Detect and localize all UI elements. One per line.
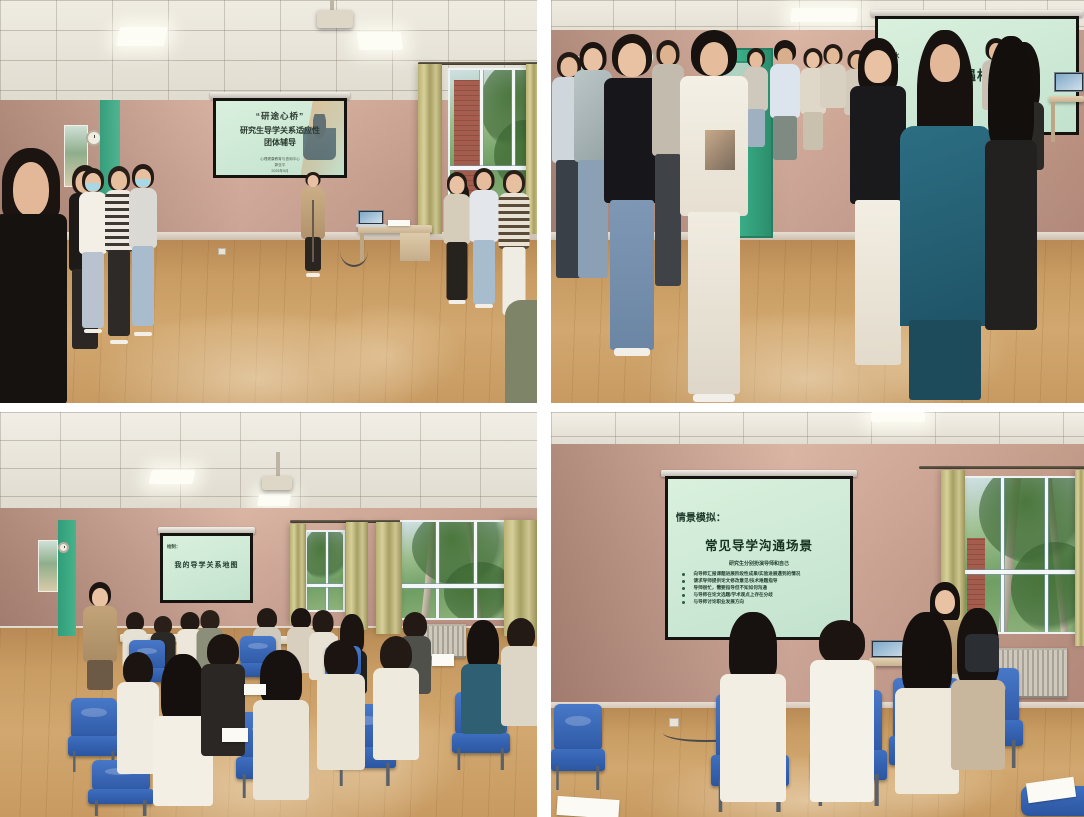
participant-standing: [497, 170, 531, 318]
slide-relationship-map: 绘制： 我的导学关系地图: [163, 536, 250, 600]
screen-frame: “研途心桥” 研究生导学关系适应性 团体辅导 心理健康教育与咨询中心 郭亚平 2…: [213, 98, 347, 178]
face-mask: [86, 183, 100, 191]
shoes: [475, 304, 493, 308]
list-item: 与导师在论文选题/学术观点上存在分歧: [682, 592, 839, 599]
torso: [985, 140, 1037, 330]
shoes: [614, 348, 650, 356]
wall-poster: [38, 540, 58, 592]
legs: [447, 242, 468, 300]
tree-foliage: [305, 530, 345, 582]
panel-worksheet-activity[interactable]: 绘制： 我的导学关系地图: [0, 412, 537, 817]
seated-participant: [500, 618, 537, 726]
panel-opening-session[interactable]: “研途心桥” 研究生导学关系适应性 团体辅导 心理健康教育与咨询中心 郭亚平 2…: [0, 0, 537, 403]
led-panel-light: [357, 32, 404, 50]
desk-leg: [1051, 102, 1055, 142]
worksheet[interactable]: [556, 796, 619, 817]
head: [13, 162, 49, 216]
list-item: 向导师汇报课题进展阶段性成果/实验进展遇到的情况: [682, 571, 839, 578]
torso: [470, 190, 499, 242]
legs: [82, 252, 104, 328]
blue-folding-chair[interactable]: [551, 704, 605, 790]
torso: [253, 700, 309, 800]
laptop-base[interactable]: [356, 224, 386, 227]
window: [305, 530, 345, 612]
projector-mount: [276, 452, 280, 478]
list-item: 请求导师提供论文修改意见/技术难题指导: [682, 578, 839, 585]
participant-standing: [468, 168, 500, 308]
ceiling-projector: [317, 10, 353, 28]
torso: [505, 300, 537, 403]
photo-collage: “研途心桥” 研究生导学关系适应性 团体辅导 心理健康教育与咨询中心 郭亚平 2…: [0, 0, 1084, 817]
head: [477, 172, 492, 190]
slide-subtitle-line2: 团体辅导: [216, 137, 344, 148]
curtain-rod: [919, 466, 1084, 469]
seated-participant: [719, 612, 787, 800]
window-curtain: [418, 64, 442, 234]
torso: [373, 668, 419, 760]
chair-back: [71, 698, 117, 738]
led-panel-light: [148, 470, 195, 484]
legs: [473, 240, 495, 304]
head: [506, 174, 522, 193]
seated-participant: [372, 636, 420, 760]
slide-corner-label: 绘制：: [167, 544, 181, 550]
long-hair: [260, 650, 302, 706]
long-hair: [988, 36, 1034, 154]
long-hair: [467, 620, 499, 670]
black-top: [850, 86, 906, 204]
legs: [108, 250, 130, 336]
list-item: 与导师讨论职业发展方向: [682, 599, 839, 606]
window-curtain: [1075, 470, 1084, 646]
laptop-screen[interactable]: [358, 210, 384, 225]
head: [750, 52, 763, 68]
participant-standing: [679, 30, 749, 402]
facilitator: [300, 172, 326, 277]
slide-subtitle-line1: 研究生导学关系适应性: [216, 125, 344, 136]
backpack: [965, 634, 999, 672]
participant-standing: [128, 164, 158, 336]
chair-legs: [454, 748, 507, 770]
head: [450, 176, 465, 194]
slide-caption: 研究生分别扮演导师和自己: [668, 560, 850, 567]
torso: [317, 674, 365, 770]
microphone-stand: [312, 200, 314, 262]
jeans: [610, 200, 654, 350]
participant-standing: [819, 44, 847, 140]
torso: [770, 64, 800, 118]
screen-surface: 绘制： 我的导学关系地图: [163, 536, 250, 600]
shoes: [84, 329, 102, 333]
head: [807, 52, 820, 68]
torso: [444, 194, 471, 244]
face-mask: [136, 179, 150, 187]
hair: [123, 652, 153, 686]
slide-title-page: “研途心桥” 研究生导学关系适应性 团体辅导 心理健康教育与咨询中心 郭亚平 2…: [216, 101, 344, 175]
white-trousers: [855, 200, 901, 365]
head: [111, 171, 127, 190]
window-mullion: [1045, 478, 1048, 632]
torso: [820, 64, 846, 108]
power-cable: [340, 235, 368, 267]
head: [865, 50, 892, 83]
slide-meta-center: 心理健康教育与咨询中心: [216, 157, 344, 162]
window: [400, 520, 508, 620]
hair: [207, 634, 239, 668]
torso: [810, 660, 874, 802]
torso: [720, 674, 786, 802]
shoes: [693, 394, 735, 402]
laptop-screen[interactable]: [1054, 72, 1084, 92]
long-hair: [902, 612, 952, 698]
panel-role-play-session[interactable]: 情景模拟： 常见导学沟通场景 研究生分别扮演导师和自己 向导师汇报课题进展阶段性…: [551, 412, 1084, 817]
torso: [501, 646, 537, 726]
legs: [132, 246, 154, 326]
participant-standing: [769, 40, 801, 162]
slide-corner-label: 情景模拟：: [676, 509, 726, 524]
slide-meta-presenter: 郭亚平: [216, 163, 344, 168]
led-panel-light: [116, 27, 168, 46]
projection-screen[interactable]: 绘制： 我的导学关系地图: [158, 527, 255, 603]
shoes: [306, 273, 320, 277]
torso: [461, 664, 505, 734]
shoes: [110, 340, 128, 344]
facilitator: [82, 582, 118, 692]
head: [584, 48, 603, 71]
head: [660, 45, 676, 65]
participant-standing: [983, 36, 1039, 336]
torso: [79, 192, 107, 254]
worksheet[interactable]: [244, 684, 266, 695]
desk-drawers: [400, 233, 430, 261]
screen-frame: 绘制： 我的导学关系地图: [160, 533, 253, 603]
participant-standing: [899, 30, 991, 403]
hair: [313, 610, 334, 634]
slide-title: “研途心桥”: [216, 110, 344, 122]
legs: [87, 660, 113, 690]
papers-on-desk: [388, 220, 410, 226]
head: [827, 48, 840, 64]
window-mullion: [965, 570, 1083, 574]
window-mullion: [307, 584, 343, 587]
hair: [201, 610, 220, 630]
shoes: [134, 332, 152, 336]
jacket-graphic: [705, 130, 735, 170]
seated-participant: [252, 650, 310, 798]
screen-surface: “研途心桥” 研究生导学关系适应性 团体辅导 心理健康教育与咨询中心 郭亚平 2…: [216, 101, 344, 175]
torso: [951, 680, 1005, 770]
window-mullion: [436, 522, 439, 618]
seated-participant: [809, 620, 875, 800]
hair: [324, 640, 358, 678]
wall-outlet: [218, 248, 226, 255]
window-mullion: [326, 532, 328, 610]
head: [700, 42, 728, 76]
participant-foreground: [0, 148, 62, 403]
slide-title: 我的导学关系地图: [163, 560, 250, 570]
legs: [773, 116, 797, 160]
slide-bullet-list: 向导师汇报课题进展阶段性成果/实验进展遇到的情况 请求导师提供论文修改意见/技术…: [682, 571, 839, 606]
chair-legs: [553, 766, 603, 790]
led-panel-light: [790, 8, 857, 22]
led-panel-light: [257, 494, 291, 506]
hair: [257, 608, 277, 629]
shoes: [449, 300, 466, 304]
legs: [909, 320, 981, 400]
participant-foreground: [505, 300, 537, 403]
list-item: 导师很忙，需要指导但不知如何沟通: [682, 585, 839, 592]
legs: [747, 109, 765, 147]
head: [930, 44, 960, 82]
hair: [403, 612, 427, 638]
window-mullion: [474, 522, 477, 618]
hair-bun: [819, 620, 865, 664]
head: [778, 48, 793, 65]
head: [92, 588, 108, 607]
projection-screen[interactable]: “研途心桥” 研究生导学关系适应性 团体辅导 心理健康教育与咨询中心 郭亚平 2…: [210, 92, 350, 178]
head: [308, 175, 319, 187]
seated-participant: [949, 608, 1007, 768]
worksheet[interactable]: [222, 728, 248, 742]
white-trousers: [688, 212, 740, 394]
legs: [655, 154, 681, 286]
torso: [0, 214, 67, 403]
head: [618, 43, 646, 77]
teal-shirt: [900, 126, 990, 326]
coat: [83, 606, 117, 662]
wall-clock: [58, 542, 69, 553]
window-mullion: [402, 584, 506, 588]
green-door[interactable]: [58, 520, 76, 636]
torso: [129, 188, 157, 248]
striped-shirt: [499, 193, 530, 249]
seated-participant: [316, 640, 366, 770]
chair-legs: [91, 800, 152, 816]
slide-title: 常见导学沟通场景: [668, 535, 850, 554]
chair-back: [554, 704, 602, 750]
led-panel-light: [871, 412, 925, 422]
torso: [201, 664, 245, 756]
worksheet[interactable]: [432, 654, 454, 666]
ceiling-projector: [262, 476, 292, 490]
panel-icebreaker-activity[interactable]: 破冰 “相遇相闻”: [551, 0, 1084, 403]
hair: [380, 636, 412, 672]
